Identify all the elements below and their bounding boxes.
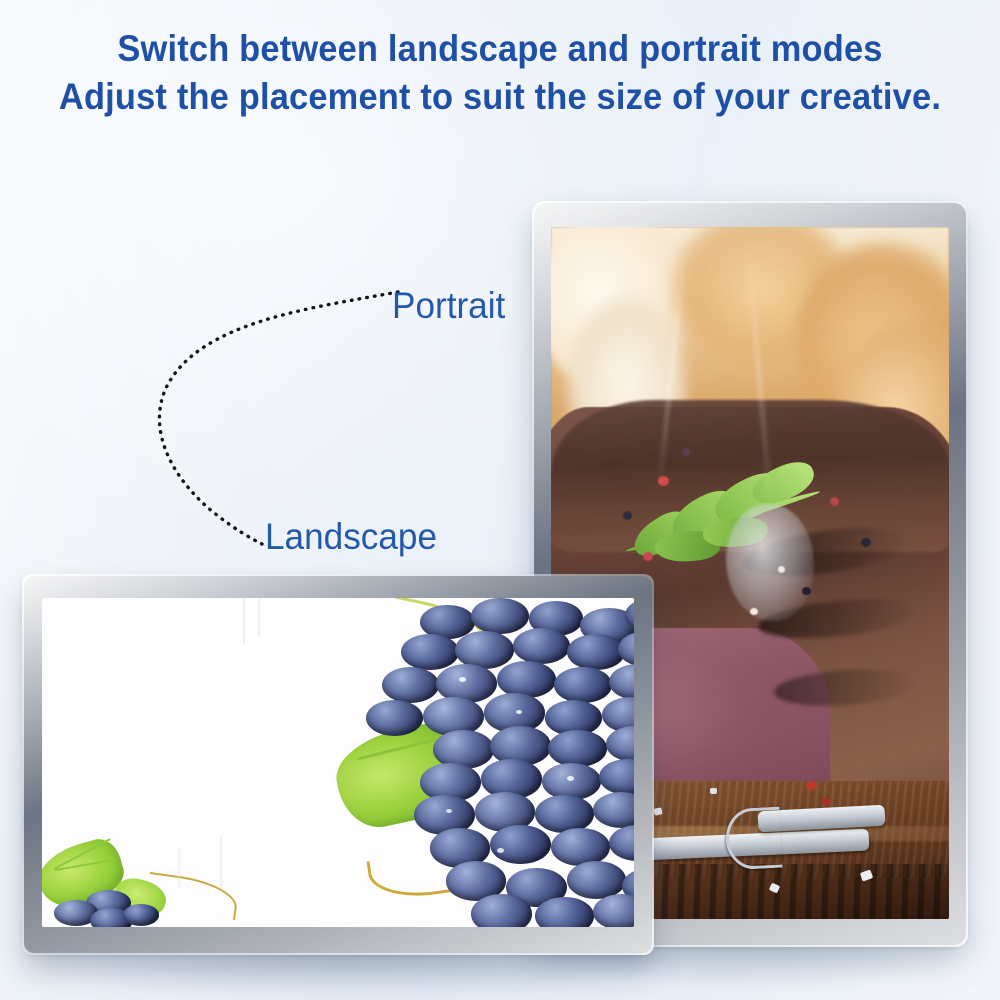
grapes-photo xyxy=(42,598,634,927)
headline-line-2: Adjust the placement to suit the size of… xyxy=(35,76,965,117)
landscape-display-screen[interactable] xyxy=(42,598,634,927)
callout-label-portrait: Portrait xyxy=(392,285,505,327)
headline-line-1: Switch between landscape and portrait mo… xyxy=(35,28,965,69)
callout-label-landscape: Landscape xyxy=(265,516,437,558)
headline-block: Switch between landscape and portrait mo… xyxy=(0,28,1000,118)
landscape-display[interactable] xyxy=(24,576,652,953)
product-infographic: Switch between landscape and portrait mo… xyxy=(0,0,1000,1000)
